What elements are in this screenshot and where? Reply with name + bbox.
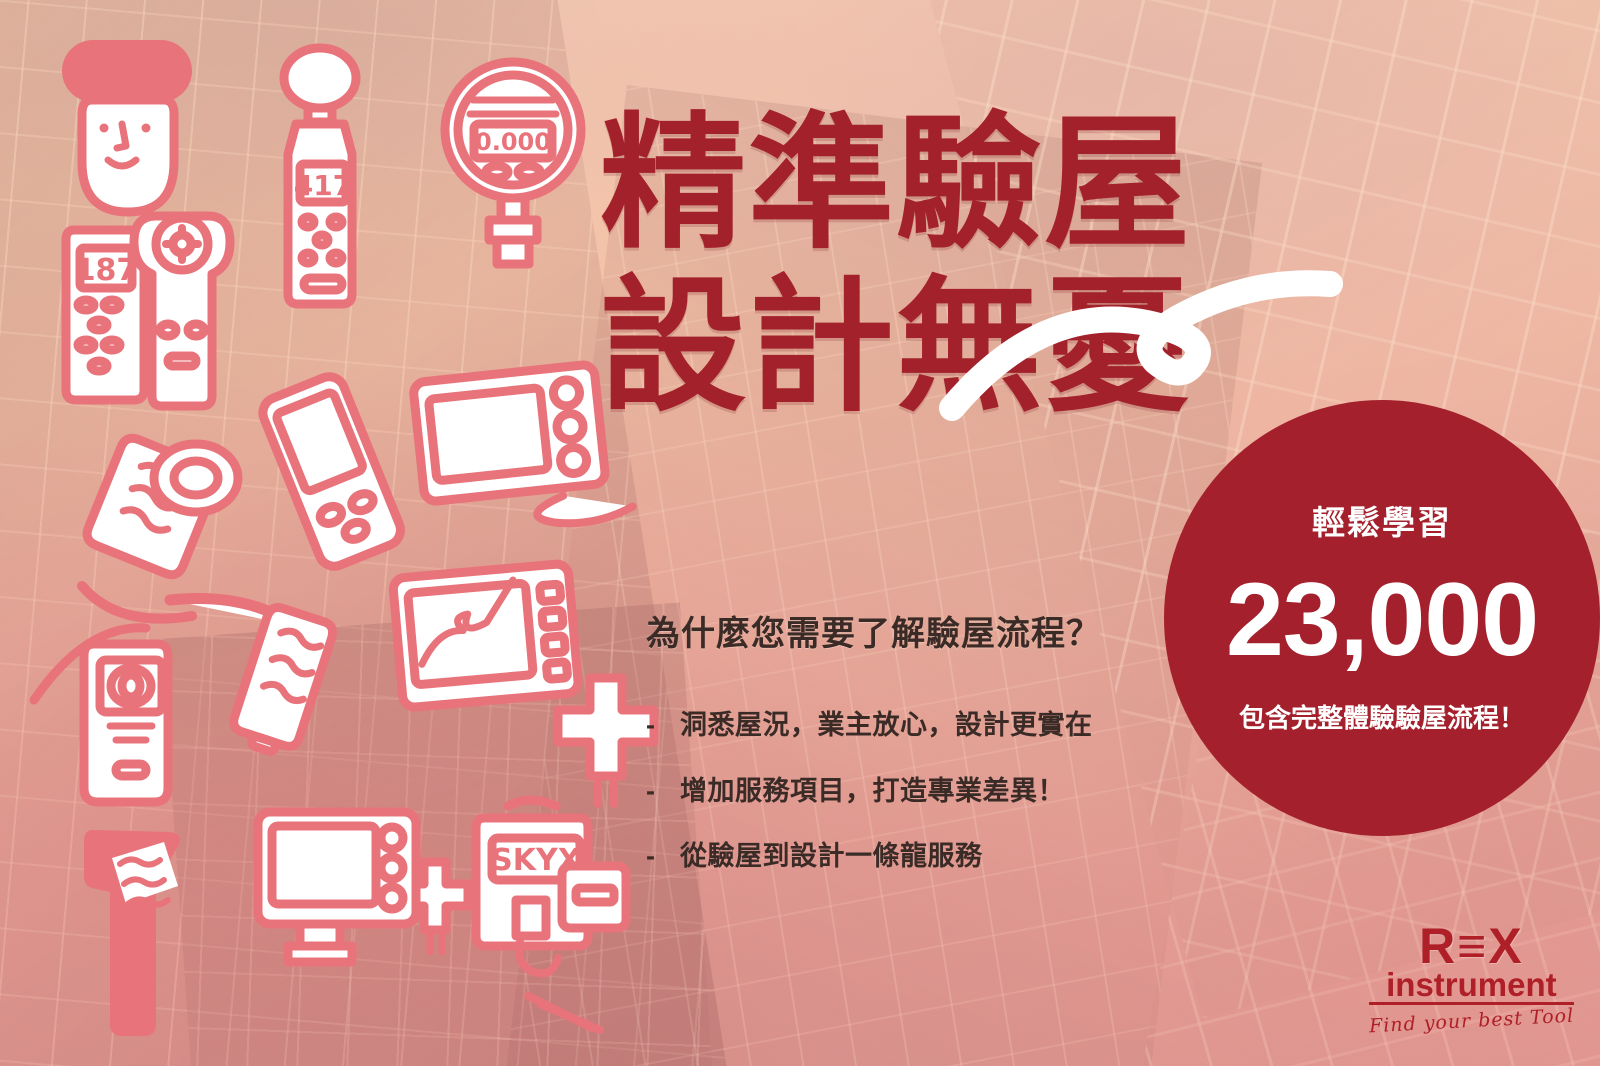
instrument-doodle-cluster: 187: [0, 0, 660, 1066]
body-question: 為什麼您需要了解驗屋流程？: [646, 606, 1206, 655]
thermal-camera-icon: [34, 628, 168, 802]
tool-case-icon: SKYX: [476, 800, 626, 1030]
instrument-doodles-svg: 187: [0, 0, 660, 1066]
bullet-marker: -: [646, 842, 680, 872]
bullet-text: 從驗屋到設計一條龍服務: [680, 842, 983, 872]
sound-meter-reading: 417: [294, 169, 352, 202]
headline-line-1: 精準驗屋: [600, 110, 1320, 259]
handheld-tester-icon: [258, 372, 405, 571]
price-amount: 23,000: [1226, 568, 1538, 672]
probe-pen-icon: [228, 605, 336, 759]
infrared-thermometer-icon: [84, 830, 180, 1036]
price-badge: 輕鬆學習 23,000 包含完整體驗驗屋流程！: [1164, 400, 1600, 836]
pressure-gauge-icon: 0.000: [445, 62, 581, 264]
headline-block: 精準驗屋 設計無憂: [600, 110, 1320, 422]
digital-display-meter-icon: [258, 812, 416, 962]
panel-meter-icon: [392, 563, 579, 708]
moisture-meter-icon: [134, 216, 230, 406]
gauge-reading: 0.000: [475, 128, 551, 156]
promotional-banner: 187: [0, 0, 1600, 1066]
bullet-marker: -: [646, 711, 680, 741]
price-badge-label: 輕鬆學習: [1312, 496, 1452, 544]
cable-coil-icon: [154, 444, 238, 512]
logo-brand-name: R≡X: [1369, 923, 1574, 971]
logo-subtitle: instrument: [1369, 968, 1574, 1005]
brand-logo: R≡X instrument Find your best Tool: [1369, 923, 1574, 1033]
inspector-face-icon: [62, 40, 192, 212]
bullet-marker: -: [646, 777, 680, 807]
list-item: - 從驗屋到設計一條龍服務: [646, 842, 1206, 872]
headline-line-2: 設計無憂: [600, 273, 1320, 422]
list-item: - 增加服務項目，打造專業差異！: [646, 777, 1206, 807]
bullet-text: 洞悉屋況，業主放心，設計更實在: [680, 711, 1093, 741]
benefit-list: - 洞悉屋況，業主放心，設計更實在 - 增加服務項目，打造專業差異！ - 從驗屋…: [646, 711, 1206, 872]
list-item: - 洞悉屋況，業主放心，設計更實在: [646, 711, 1206, 741]
price-badge-note: 包含完整體驗驗屋流程！: [1239, 698, 1525, 735]
bullet-text: 增加服務項目，打造專業差異！: [680, 777, 1065, 807]
body-copy-block: 為什麼您需要了解驗屋流程？ - 洞悉屋況，業主放心，設計更實在 - 增加服務項目…: [646, 606, 1206, 908]
multimeter-reading: 187: [75, 253, 138, 288]
sound-level-meter-icon: 417: [284, 48, 356, 304]
